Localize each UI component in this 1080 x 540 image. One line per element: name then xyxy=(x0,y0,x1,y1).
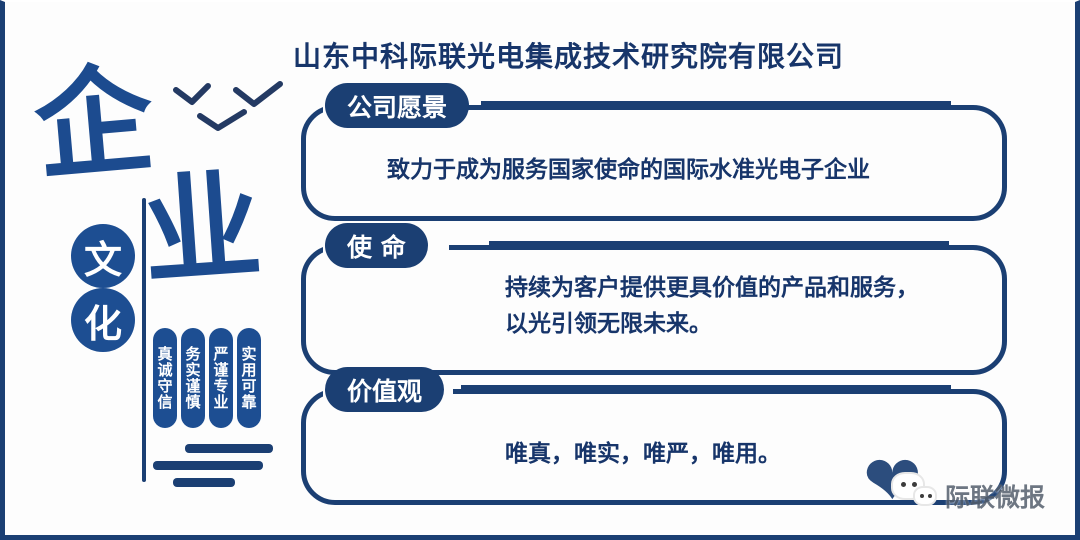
section-rule xyxy=(481,101,951,110)
section-body-line: 持续为客户提供更具价值的产品和服务， xyxy=(505,271,919,307)
page-title: 山东中科际联光电集成技术研究院有限公司 xyxy=(293,35,844,75)
calligraphy-char-ye: 业 xyxy=(139,166,265,292)
section-body-line: 以光引领无限未来。 xyxy=(505,307,919,343)
section-rule xyxy=(461,385,951,394)
value-pill-group: 真诚守信 务实谨慎 严谨专业 实用可靠 xyxy=(153,328,261,428)
circle-char-wen: 文 xyxy=(71,224,135,288)
circle-char-hua: 化 xyxy=(71,288,135,352)
section-mission: 使 命 持续为客户提供更具价值的产品和服务， 以光引领无限未来。 xyxy=(301,245,1007,375)
decorative-bar xyxy=(185,444,273,453)
section-body-vision: 致力于成为服务国家使命的国际水准光电子企业 xyxy=(387,153,870,189)
wechat-icon-small xyxy=(913,486,937,506)
section-badge-mission: 使 命 xyxy=(325,223,428,268)
value-pill: 实用可靠 xyxy=(237,328,261,428)
watermark: ❤ 际联微报 xyxy=(863,442,1080,526)
section-body-mission: 持续为客户提供更具价值的产品和服务， 以光引领无限未来。 xyxy=(505,271,919,342)
section-badge-vision: 公司愿景 xyxy=(325,83,469,128)
watermark-brand: 际联微报 xyxy=(945,478,1045,514)
value-pill: 真诚守信 xyxy=(153,328,177,428)
decorative-bar xyxy=(173,478,235,487)
decorative-bar xyxy=(153,461,263,470)
value-pill: 严谨专业 xyxy=(209,328,233,428)
section-body-values: 唯真，唯实，唯严，唯用。 xyxy=(505,437,781,473)
vertical-divider xyxy=(142,198,146,482)
flying-birds-icon xyxy=(170,74,286,138)
value-pill: 务实谨慎 xyxy=(181,328,205,428)
section-vision: 公司愿景 致力于成为服务国家使命的国际水准光电子企业 xyxy=(301,105,1007,221)
section-rule xyxy=(489,241,949,250)
section-badge-values: 价值观 xyxy=(325,367,444,412)
poster-canvas: 山东中科际联光电集成技术研究院有限公司 企 业 文 化 真诚守信 务实谨慎 严谨… xyxy=(0,0,1080,540)
